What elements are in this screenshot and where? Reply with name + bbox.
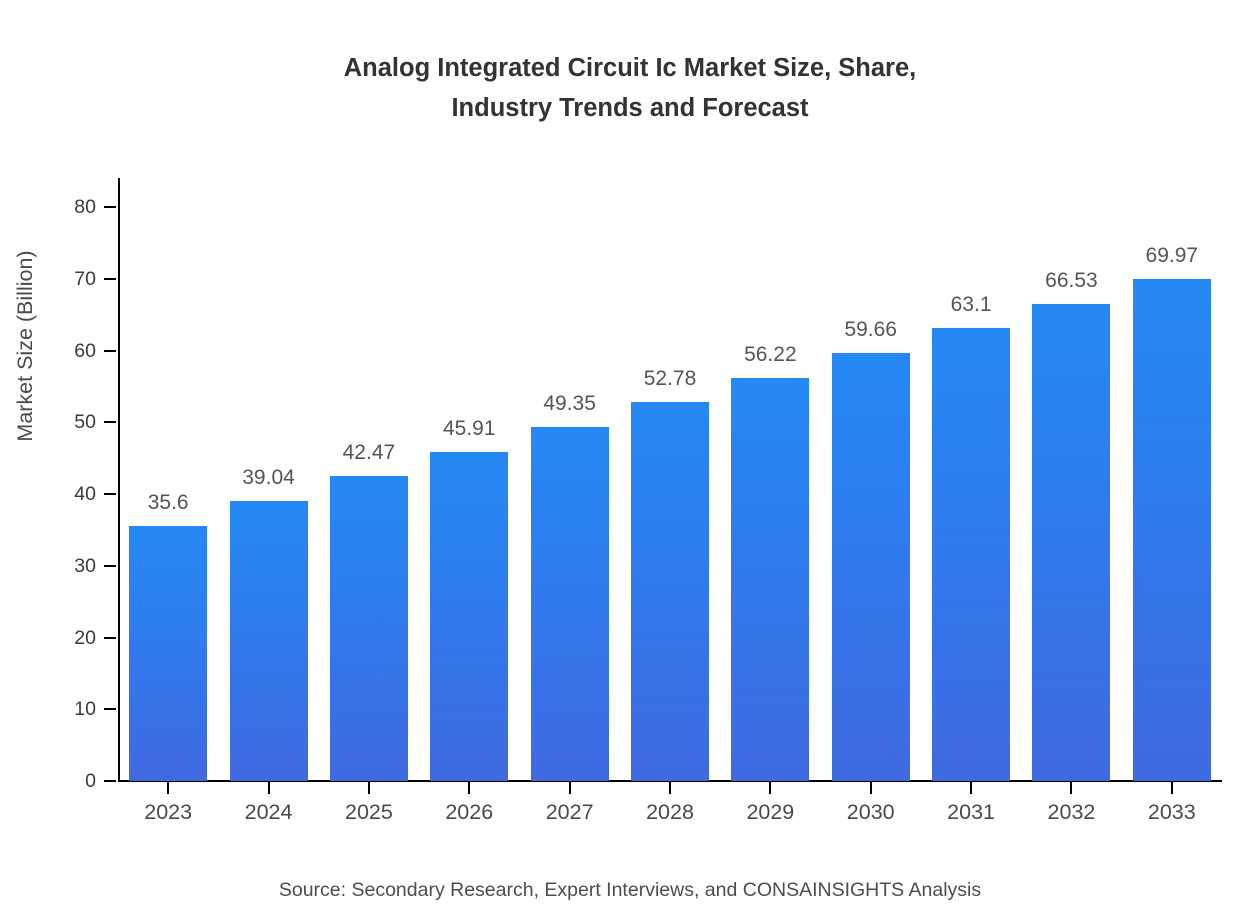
y-tick-label: 80 bbox=[40, 194, 96, 220]
y-tick-label: 40 bbox=[40, 481, 96, 507]
bar[interactable] bbox=[631, 402, 709, 781]
x-tick-mark bbox=[1070, 782, 1072, 794]
source-note: Source: Secondary Research, Expert Inter… bbox=[0, 876, 1260, 904]
y-tick-label: 30 bbox=[40, 553, 96, 579]
x-tick-mark bbox=[368, 782, 370, 794]
y-tick-mark bbox=[104, 421, 116, 423]
bar-value-label: 59.66 bbox=[801, 317, 941, 343]
x-tick-mark bbox=[167, 782, 169, 794]
y-tick-mark bbox=[104, 708, 116, 710]
x-tick-mark bbox=[268, 782, 270, 794]
bar[interactable] bbox=[330, 476, 408, 781]
bar[interactable] bbox=[731, 378, 809, 781]
bar[interactable] bbox=[932, 328, 1010, 781]
x-tick-mark bbox=[970, 782, 972, 794]
x-tick-mark bbox=[669, 782, 671, 794]
chart-page: Analog Integrated Circuit Ic Market Size… bbox=[0, 0, 1260, 920]
bar-value-label: 49.35 bbox=[500, 391, 640, 417]
y-tick-mark bbox=[104, 780, 116, 782]
y-axis-spine bbox=[118, 178, 120, 782]
x-tick-mark bbox=[468, 782, 470, 794]
bar[interactable] bbox=[832, 353, 910, 781]
bar-value-label: 52.78 bbox=[600, 366, 740, 392]
y-tick-label: 20 bbox=[40, 625, 96, 651]
x-tick-label: 2033 bbox=[1112, 798, 1232, 826]
x-tick-mark bbox=[569, 782, 571, 794]
bar-value-label: 39.04 bbox=[199, 465, 339, 491]
bar-value-label: 69.97 bbox=[1102, 243, 1242, 269]
y-tick-mark bbox=[104, 637, 116, 639]
bar[interactable] bbox=[1032, 304, 1110, 781]
x-tick-mark bbox=[769, 782, 771, 794]
bar-value-label: 42.47 bbox=[299, 440, 439, 466]
y-tick-label: 70 bbox=[40, 266, 96, 292]
bar[interactable] bbox=[1133, 279, 1211, 781]
bar-value-label: 66.53 bbox=[1001, 268, 1141, 294]
y-axis-title: Market Size (Billion) bbox=[12, 66, 38, 626]
chart-title: Analog Integrated Circuit Ic Market Size… bbox=[0, 48, 1260, 128]
y-tick-label: 50 bbox=[40, 409, 96, 435]
y-tick-mark bbox=[104, 206, 116, 208]
bar-value-label: 35.6 bbox=[98, 490, 238, 516]
bar-value-label: 63.1 bbox=[901, 292, 1041, 318]
y-tick-label: 10 bbox=[40, 696, 96, 722]
bar[interactable] bbox=[129, 526, 207, 781]
bar[interactable] bbox=[230, 501, 308, 781]
y-tick-label: 60 bbox=[40, 338, 96, 364]
bar-value-label: 45.91 bbox=[399, 416, 539, 442]
bar[interactable] bbox=[531, 427, 609, 781]
x-tick-mark bbox=[1171, 782, 1173, 794]
y-tick-mark bbox=[104, 278, 116, 280]
y-tick-mark bbox=[104, 565, 116, 567]
bar[interactable] bbox=[430, 452, 508, 781]
bar-value-label: 56.22 bbox=[700, 342, 840, 368]
y-tick-mark bbox=[104, 350, 116, 352]
y-tick-label: 0 bbox=[40, 768, 96, 794]
x-tick-mark bbox=[870, 782, 872, 794]
